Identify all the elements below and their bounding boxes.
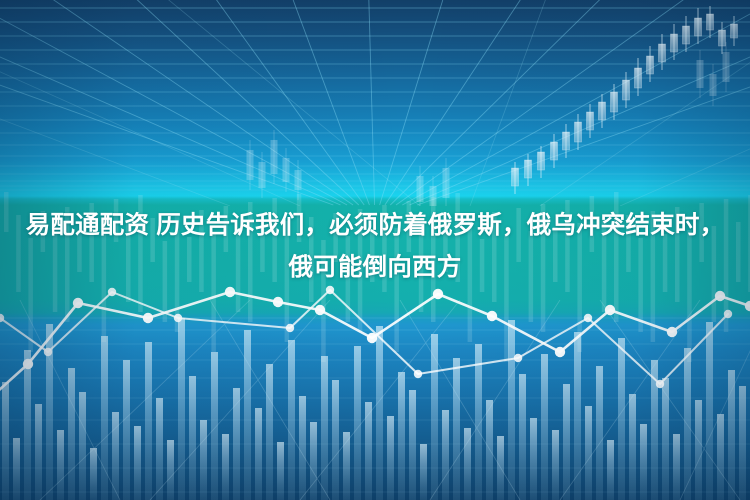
financial-banner: 易配通配资 历史告诉我们，必须防着俄罗斯，俄乌冲突结束时，俄可能倒向西方 bbox=[0, 0, 750, 500]
page-title: 易配通配资 历史告诉我们，必须防着俄罗斯，俄乌冲突结束时，俄可能倒向西方 bbox=[0, 205, 750, 289]
headline-text: 易配通配资 历史告诉我们，必须防着俄罗斯，俄乌冲突结束时，俄可能倒向西方 bbox=[26, 212, 725, 281]
